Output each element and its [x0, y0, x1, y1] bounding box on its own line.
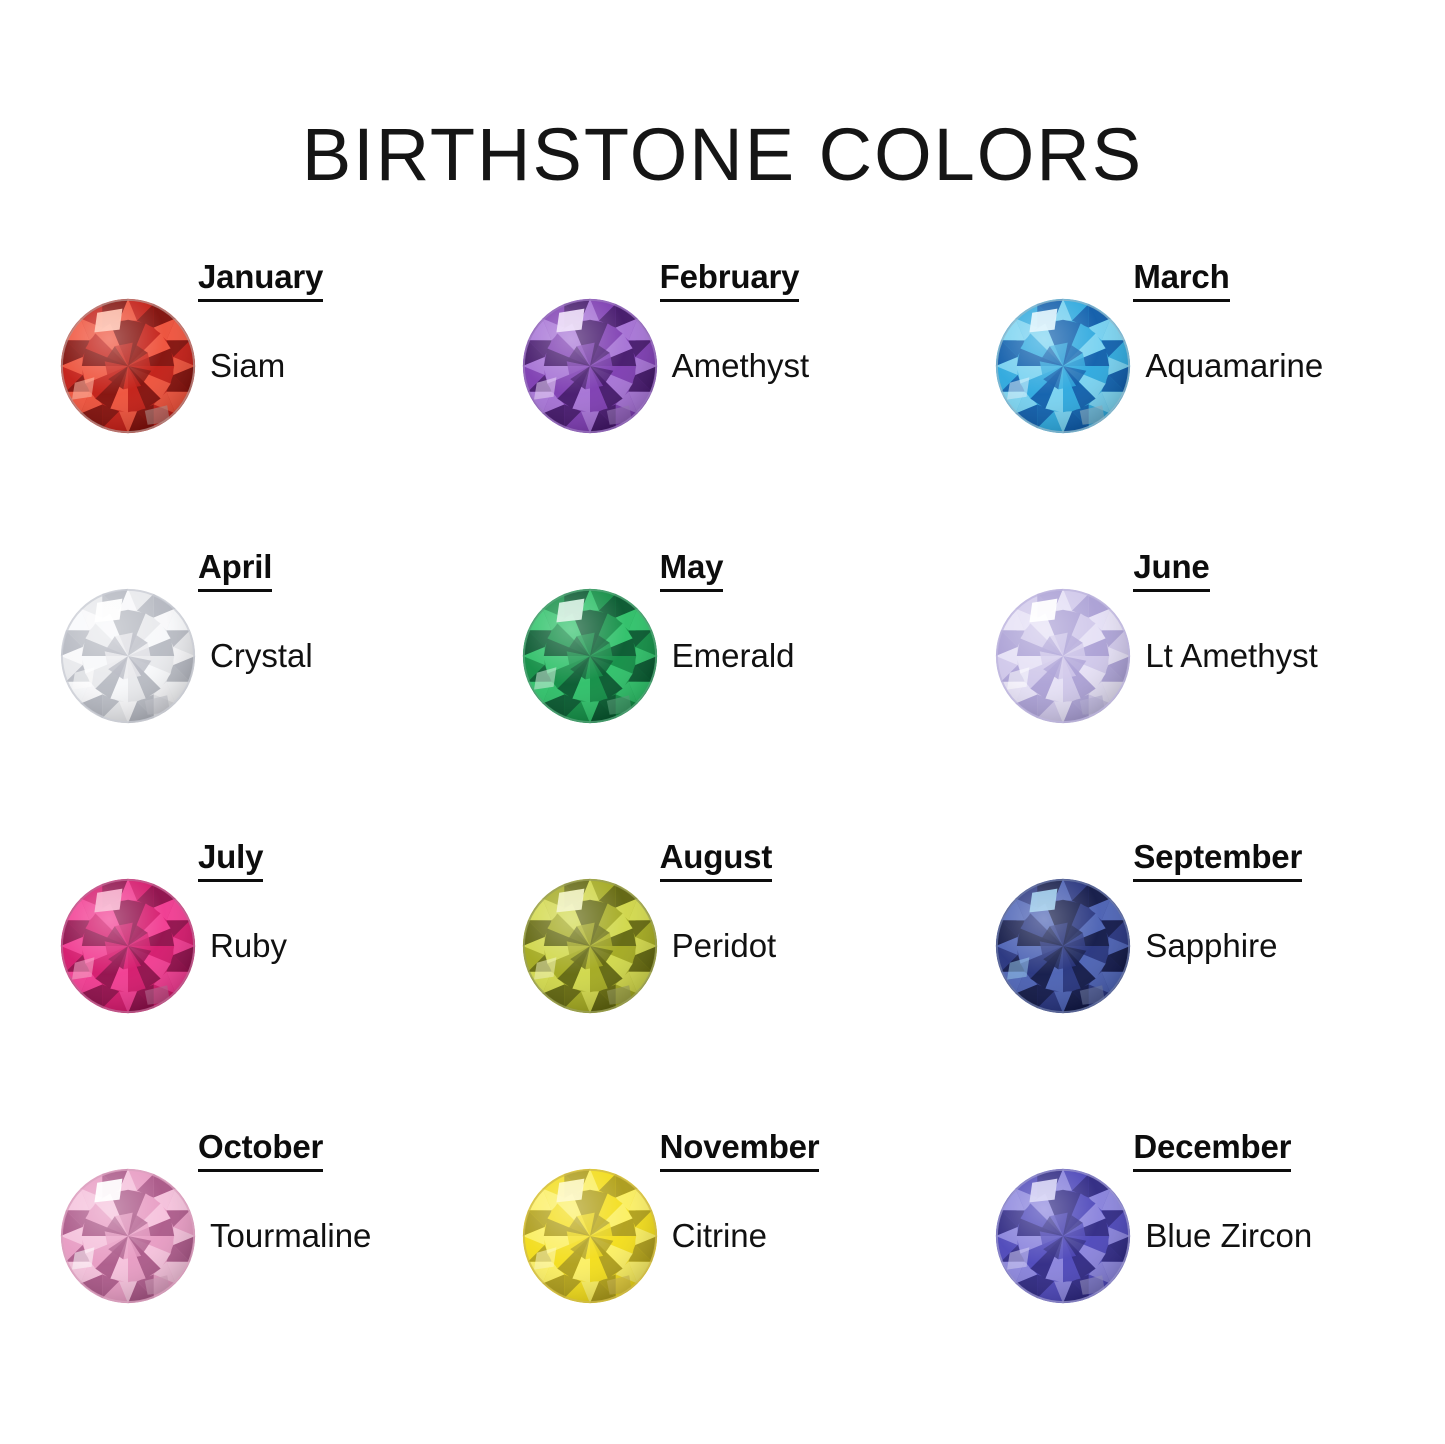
month-label-text: May	[660, 548, 724, 592]
month-label: August	[660, 838, 990, 882]
round-brilliant-gem-icon	[58, 296, 198, 436]
month-label-text: October	[198, 1128, 323, 1172]
month-label-text: September	[1133, 838, 1302, 882]
birthstone-cell-december: December Blue Zircon	[963, 1128, 1445, 1418]
stone-name: Citrine	[672, 1216, 1012, 1256]
month-label-text: June	[1133, 548, 1209, 592]
month-label-text: March	[1133, 258, 1229, 302]
round-brilliant-gem-icon	[58, 586, 198, 726]
month-label-text: July	[198, 838, 263, 882]
gem-illustration	[58, 1166, 198, 1306]
round-brilliant-gem-icon	[993, 876, 1133, 1016]
round-brilliant-gem-icon	[993, 296, 1133, 436]
page-title: BIRTHSTONE COLORS	[0, 112, 1445, 198]
month-label: March	[1133, 258, 1445, 302]
birthstone-grid: January Siam February Amethyst	[0, 258, 1445, 1418]
stone-name: Sapphire	[1145, 926, 1445, 966]
round-brilliant-gem-icon	[993, 1166, 1133, 1306]
birthstone-cell-november: November Citrine	[482, 1128, 964, 1418]
stone-name: Emerald	[672, 636, 1012, 676]
month-label: September	[1133, 838, 1445, 882]
gem-illustration	[993, 586, 1133, 726]
month-label-text: April	[198, 548, 272, 592]
month-label: February	[660, 258, 990, 302]
month-label: April	[198, 548, 528, 592]
birthstone-cell-june: June Lt Amethyst	[963, 548, 1445, 838]
round-brilliant-gem-icon	[58, 1166, 198, 1306]
birthstone-cell-may: May Emerald	[482, 548, 964, 838]
month-label: July	[198, 838, 528, 882]
month-label-text: August	[660, 838, 772, 882]
month-label-text: December	[1133, 1128, 1291, 1172]
month-label: January	[198, 258, 528, 302]
birthstone-cell-february: February Amethyst	[482, 258, 964, 548]
birthstone-cell-october: October Tourmaline	[0, 1128, 482, 1418]
round-brilliant-gem-icon	[520, 296, 660, 436]
birthstone-cell-january: January Siam	[0, 258, 482, 548]
month-label-text: November	[660, 1128, 820, 1172]
gem-illustration	[58, 586, 198, 726]
gem-illustration	[520, 876, 660, 1016]
gem-illustration	[993, 296, 1133, 436]
round-brilliant-gem-icon	[58, 876, 198, 1016]
round-brilliant-gem-icon	[520, 876, 660, 1016]
month-label: May	[660, 548, 990, 592]
month-label: December	[1133, 1128, 1445, 1172]
round-brilliant-gem-icon	[520, 1166, 660, 1306]
birthstone-colors-poster: BIRTHSTONE COLORS January Siam	[0, 0, 1445, 1444]
stone-name: Aquamarine	[1145, 346, 1445, 386]
birthstone-cell-march: March Aquamarine	[963, 258, 1445, 548]
stone-name: Amethyst	[672, 346, 1012, 386]
birthstone-cell-july: July Ruby	[0, 838, 482, 1128]
stone-name: Peridot	[672, 926, 1012, 966]
month-label: October	[198, 1128, 528, 1172]
birthstone-cell-april: April Crystal	[0, 548, 482, 838]
gem-illustration	[993, 1166, 1133, 1306]
birthstone-cell-september: September Sapphire	[963, 838, 1445, 1128]
stone-name: Blue Zircon	[1145, 1216, 1445, 1256]
gem-illustration	[993, 876, 1133, 1016]
birthstone-cell-august: August Peridot	[482, 838, 964, 1128]
month-label: June	[1133, 548, 1445, 592]
month-label-text: January	[198, 258, 323, 302]
gem-illustration	[58, 296, 198, 436]
round-brilliant-gem-icon	[520, 586, 660, 726]
month-label: November	[660, 1128, 990, 1172]
gem-illustration	[520, 296, 660, 436]
gem-illustration	[520, 1166, 660, 1306]
gem-illustration	[520, 586, 660, 726]
gem-illustration	[58, 876, 198, 1016]
round-brilliant-gem-icon	[993, 586, 1133, 726]
month-label-text: February	[660, 258, 800, 302]
stone-name: Lt Amethyst	[1145, 636, 1445, 676]
